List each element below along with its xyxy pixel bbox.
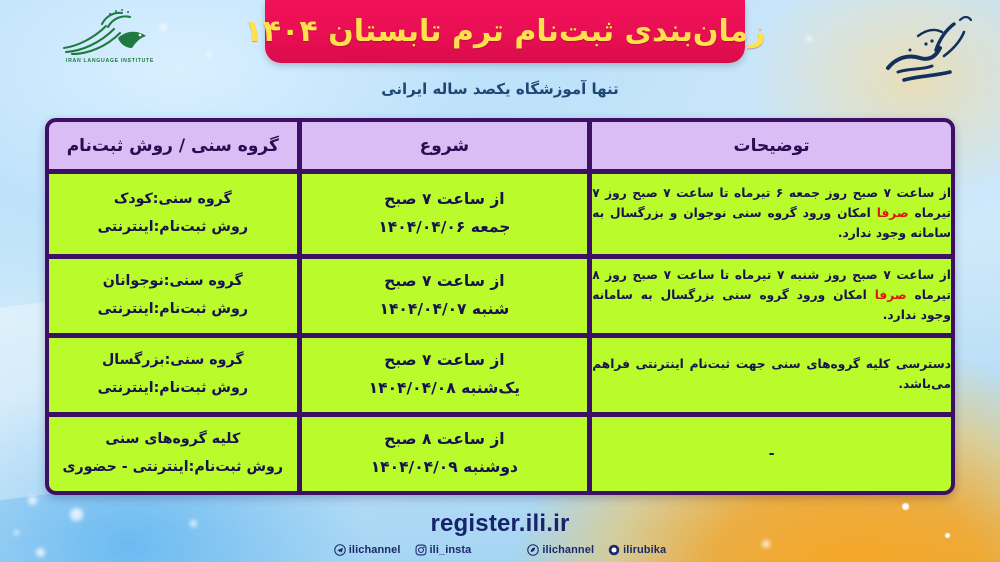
sparkle (28, 496, 37, 505)
age-group: کلیه گروه‌های سنی (49, 426, 297, 454)
table-row: - از ساعت ۸ صبح دوشنبه ۱۴۰۴/۰۴/۰۹ کلیه گ… (49, 412, 951, 491)
column-header-descriptions: توضیحات (587, 122, 951, 169)
description-text-part1: دسترسی کلیه گروه‌های سنی جهت ثبت‌نام این… (592, 357, 951, 391)
ili-logo: IRAN LANGUAGE INSTITUTE (44, 6, 172, 72)
social-instagram-handle: ili_insta (430, 544, 472, 556)
start-time: از ساعت ۷ صبح (302, 268, 588, 296)
table-row: از ساعت ۷ صبح روز شنبه ۷ تیرماه تا ساعت … (49, 254, 951, 333)
social-group-secondary: ilichannel ilirubika (527, 544, 666, 556)
description-text-part1: - (769, 446, 775, 462)
description-highlight: صرفا (875, 288, 907, 302)
column-header-start: شروع (297, 122, 588, 169)
tagline: تنها آموزشگاه یکصد ساله ایرانی (0, 80, 1000, 98)
cell-group: کلیه گروه‌های سنی روش ثبت‌نام:اینترنتی -… (49, 412, 297, 491)
social-rubika-handle: ilirubika (623, 544, 666, 556)
start-date: شنبه ۱۴۰۴/۰۴/۰۷ (302, 296, 588, 324)
cell-description: از ساعت ۷ صبح روز شنبه ۷ تیرماه تا ساعت … (587, 254, 951, 333)
social-telegram-handle: ilichannel (349, 544, 401, 556)
cell-start: از ساعت ۸ صبح دوشنبه ۱۴۰۴/۰۴/۰۹ (297, 412, 588, 491)
centenary-logo-calligraphy (874, 6, 982, 90)
table-header-row: توضیحات شروع گروه سنی / روش ثبت‌نام (49, 122, 951, 169)
website-link[interactable]: register.ili.ir (0, 510, 1000, 538)
schedule-table: توضیحات شروع گروه سنی / روش ثبت‌نام از س… (45, 118, 955, 495)
cell-start: از ساعت ۷ صبح جمعه ۱۴۰۴/۰۴/۰۶ (297, 169, 588, 254)
registration-method: روش ثبت‌نام:اینترنتی (49, 214, 297, 242)
social-eitaa-handle: ilichannel (542, 544, 594, 556)
footer: register.ili.ir ilichannel ili_insta (0, 510, 1000, 556)
instagram-icon (415, 544, 427, 556)
start-time: از ساعت ۷ صبح (302, 347, 588, 375)
page-title: زمان‌بندی ثبت‌نام ترم تابستان ۱۴۰۴ (244, 14, 765, 49)
column-header-group: گروه سنی / روش ثبت‌نام (49, 122, 297, 169)
cell-group: گروه سنی:کودک روش ثبت‌نام:اینترنتی (49, 169, 297, 254)
description-highlight: صرفا (877, 206, 909, 220)
rubika-icon (608, 544, 620, 556)
social-rubika[interactable]: ilirubika (608, 544, 666, 556)
start-date: دوشنبه ۱۴۰۴/۰۴/۰۹ (302, 454, 588, 482)
table-row: از ساعت ۷ صبح روز جمعه ۶ تیرماه تا ساعت … (49, 169, 951, 254)
sparkle (902, 503, 909, 510)
centenary-logo (874, 6, 982, 90)
social-eitaa[interactable]: ilichannel (527, 544, 594, 556)
telegram-icon (334, 544, 346, 556)
start-date: یک‌شنبه ۱۴۰۴/۰۴/۰۸ (302, 375, 588, 403)
title-banner: زمان‌بندی ثبت‌نام ترم تابستان ۱۴۰۴ (265, 0, 745, 63)
registration-method: روش ثبت‌نام:اینترنتی - حضوری (49, 454, 297, 482)
age-group: گروه سنی:بزرگسال (49, 347, 297, 375)
age-group: گروه سنی:کودک (49, 186, 297, 214)
cell-start: از ساعت ۷ صبح یک‌شنبه ۱۴۰۴/۰۴/۰۸ (297, 333, 588, 412)
start-time: از ساعت ۸ صبح (302, 426, 588, 454)
ili-logo-caption: IRAN LANGUAGE INSTITUTE (54, 58, 166, 64)
ili-logo-mark (56, 8, 160, 56)
cell-start: از ساعت ۷ صبح شنبه ۱۴۰۴/۰۴/۰۷ (297, 254, 588, 333)
cell-group: گروه سنی:بزرگسال روش ثبت‌نام:اینترنتی (49, 333, 297, 412)
cell-description: - (587, 412, 951, 491)
social-handles: ilichannel ili_insta ilichannel (0, 544, 1000, 556)
sparkle (806, 36, 812, 42)
registration-method: روش ثبت‌نام:اینترنتی (49, 375, 297, 403)
social-instagram[interactable]: ili_insta (415, 544, 472, 556)
cell-description: دسترسی کلیه گروه‌های سنی جهت ثبت‌نام این… (587, 333, 951, 412)
sparkle (206, 52, 211, 57)
eitaa-icon (527, 544, 539, 556)
schedule-table-head: توضیحات شروع گروه سنی / روش ثبت‌نام (49, 122, 951, 169)
table-row: دسترسی کلیه گروه‌های سنی جهت ثبت‌نام این… (49, 333, 951, 412)
cell-group: گروه سنی:نوجوانان روش ثبت‌نام:اینترنتی (49, 254, 297, 333)
social-group-primary: ilichannel ili_insta (334, 544, 472, 556)
registration-method: روش ثبت‌نام:اینترنتی (49, 296, 297, 324)
start-time: از ساعت ۷ صبح (302, 186, 588, 214)
schedule-table-body: از ساعت ۷ صبح روز جمعه ۶ تیرماه تا ساعت … (49, 169, 951, 491)
start-date: جمعه ۱۴۰۴/۰۴/۰۶ (302, 214, 588, 242)
age-group: گروه سنی:نوجوانان (49, 268, 297, 296)
social-telegram[interactable]: ilichannel (334, 544, 401, 556)
cell-description: از ساعت ۷ صبح روز جمعه ۶ تیرماه تا ساعت … (587, 169, 951, 254)
